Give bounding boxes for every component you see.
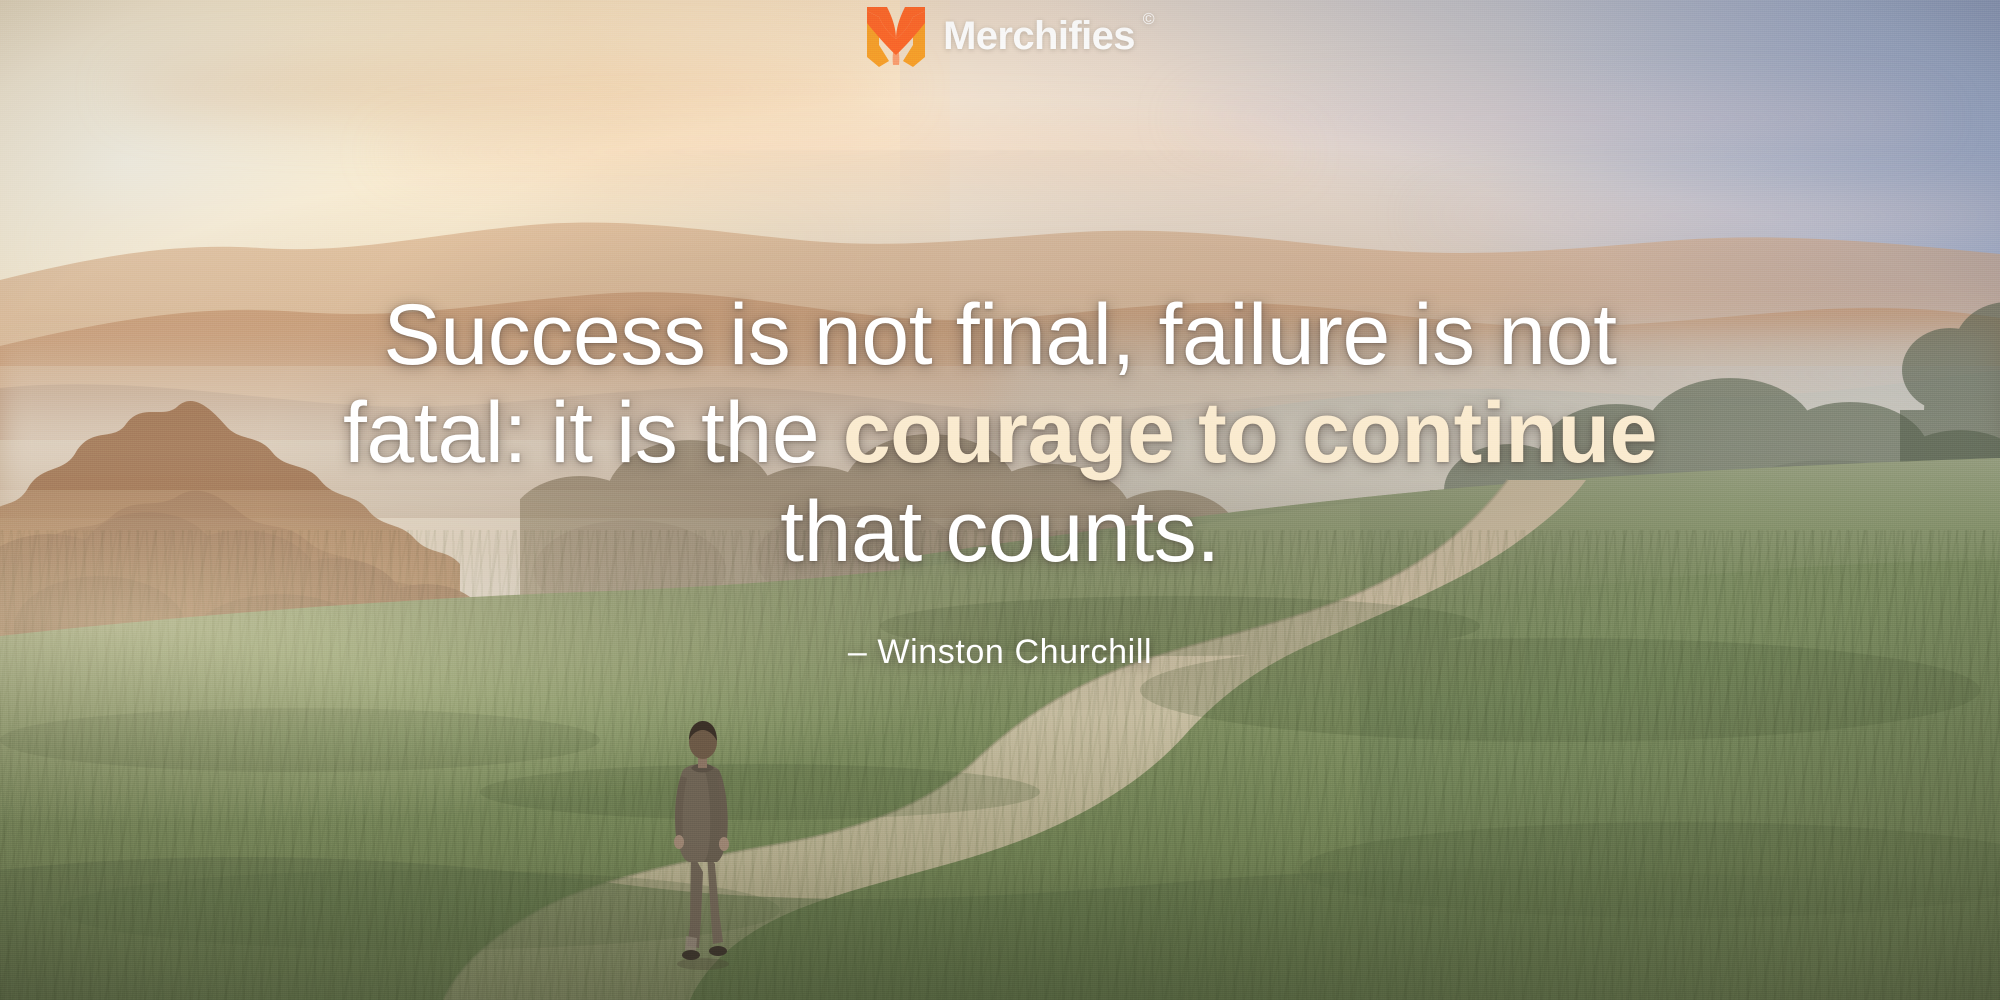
quote-line-2-text: fatal: it is the	[343, 385, 843, 481]
cloud-streak	[1180, 96, 1940, 140]
brand-wordmark[interactable]: Merchifies ©	[943, 16, 1135, 56]
quote-line-3: that counts.	[0, 483, 2000, 581]
quote-line-1: Success is not final, failure is not	[0, 286, 2000, 384]
brand-logo[interactable]: Merchifies ©	[0, 0, 2000, 72]
quote-line-3-text: that counts.	[780, 484, 1220, 580]
quote-container: Success is not final, failure is not fat…	[0, 286, 2000, 672]
registered-trademark-symbol: ©	[1143, 12, 1154, 28]
quote-attribution: – Winston Churchill	[0, 633, 2000, 672]
quote-banner: Merchifies © Success is not final, failu…	[0, 0, 2000, 1000]
quote-line-1-text: Success is not final, failure is not	[383, 287, 1616, 383]
quote-highlight-phrase: courage to continue	[843, 385, 1657, 481]
brand-name: Merchifies	[943, 14, 1135, 58]
walking-person	[663, 712, 741, 972]
cloud-streak	[380, 128, 1300, 176]
merchifies-fox-m-logo-icon[interactable]	[865, 5, 927, 67]
quote-line-2: fatal: it is the courage to continue	[0, 384, 2000, 482]
